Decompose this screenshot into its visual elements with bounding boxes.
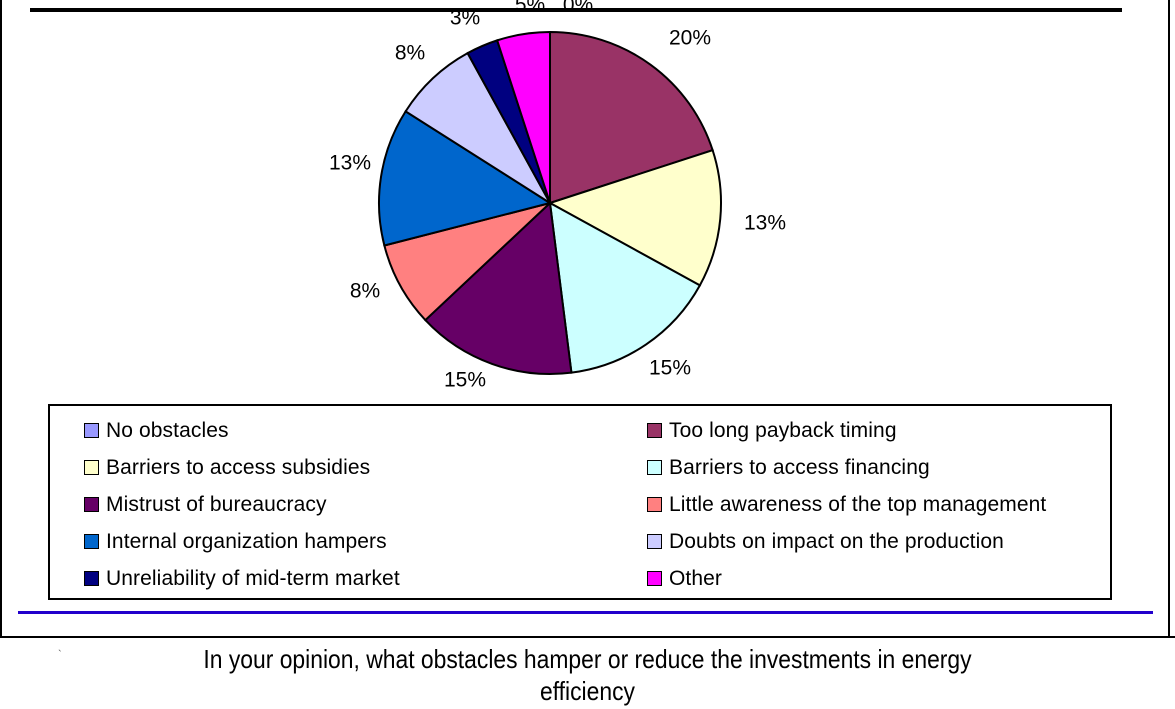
legend-item-label: Unreliability of mid-term market — [106, 567, 400, 591]
legend-item[interactable]: Internal organization hampers — [84, 530, 647, 554]
legend-item-label: Too long payback timing — [669, 419, 897, 443]
legend-swatch-icon — [647, 460, 662, 475]
pie-chart-svg — [0, 0, 1175, 400]
legend-swatch-icon — [647, 571, 662, 586]
chart-legend: No obstaclesToo long payback timingBarri… — [48, 404, 1112, 600]
legend-item[interactable]: Other — [647, 567, 1110, 591]
pie-value-label: 20% — [669, 28, 711, 49]
pie-value-label: 13% — [329, 153, 371, 174]
stray-tick-mark: ` — [58, 650, 62, 661]
legend-item-label: Barriers to access financing — [669, 456, 930, 480]
legend-item-label: Doubts on impact on the production — [669, 530, 1004, 554]
legend-item[interactable]: Too long payback timing — [647, 419, 1110, 443]
legend-grid: No obstaclesToo long payback timingBarri… — [84, 412, 1110, 597]
slide-canvas: 0%20%13%15%15%8%13%8%3%5% No obstaclesTo… — [0, 0, 1175, 709]
chart-caption: In your opinion, what obstacles hamper o… — [176, 644, 999, 707]
legend-swatch-icon — [84, 423, 99, 438]
legend-item[interactable]: Little awareness of the top management — [647, 493, 1110, 517]
legend-item-label: No obstacles — [106, 419, 229, 443]
legend-swatch-icon — [647, 423, 662, 438]
blue-divider-rule — [18, 611, 1153, 614]
legend-swatch-icon — [84, 534, 99, 549]
pie-chart: 0%20%13%15%15%8%13%8%3%5% — [0, 0, 1175, 400]
legend-item-label: Other — [669, 567, 722, 591]
bottom-divider-rule — [0, 636, 1175, 638]
legend-item[interactable]: Barriers to access financing — [647, 456, 1110, 480]
pie-value-label: 8% — [395, 43, 425, 64]
legend-swatch-icon — [647, 534, 662, 549]
pie-value-label: 8% — [350, 281, 380, 302]
legend-item-label: Barriers to access subsidies — [106, 456, 370, 480]
legend-item-label: Little awareness of the top management — [669, 493, 1046, 517]
legend-item-label: Mistrust of bureaucracy — [106, 493, 327, 517]
legend-swatch-icon — [647, 497, 662, 512]
pie-value-label: 13% — [744, 213, 786, 234]
pie-value-label: 15% — [444, 370, 486, 391]
legend-item[interactable]: No obstacles — [84, 419, 647, 443]
pie-value-label: 3% — [450, 8, 480, 29]
legend-item[interactable]: Doubts on impact on the production — [647, 530, 1110, 554]
legend-item-label: Internal organization hampers — [106, 530, 387, 554]
legend-item[interactable]: Mistrust of bureaucracy — [84, 493, 647, 517]
legend-item[interactable]: Barriers to access subsidies — [84, 456, 647, 480]
pie-value-label: 5% — [515, 0, 545, 16]
legend-swatch-icon — [84, 571, 99, 586]
pie-value-label: 15% — [649, 358, 691, 379]
legend-swatch-icon — [84, 460, 99, 475]
legend-swatch-icon — [84, 497, 99, 512]
pie-slice-group — [379, 32, 721, 374]
pie-value-label: 0% — [563, 0, 593, 16]
legend-item[interactable]: Unreliability of mid-term market — [84, 567, 647, 591]
